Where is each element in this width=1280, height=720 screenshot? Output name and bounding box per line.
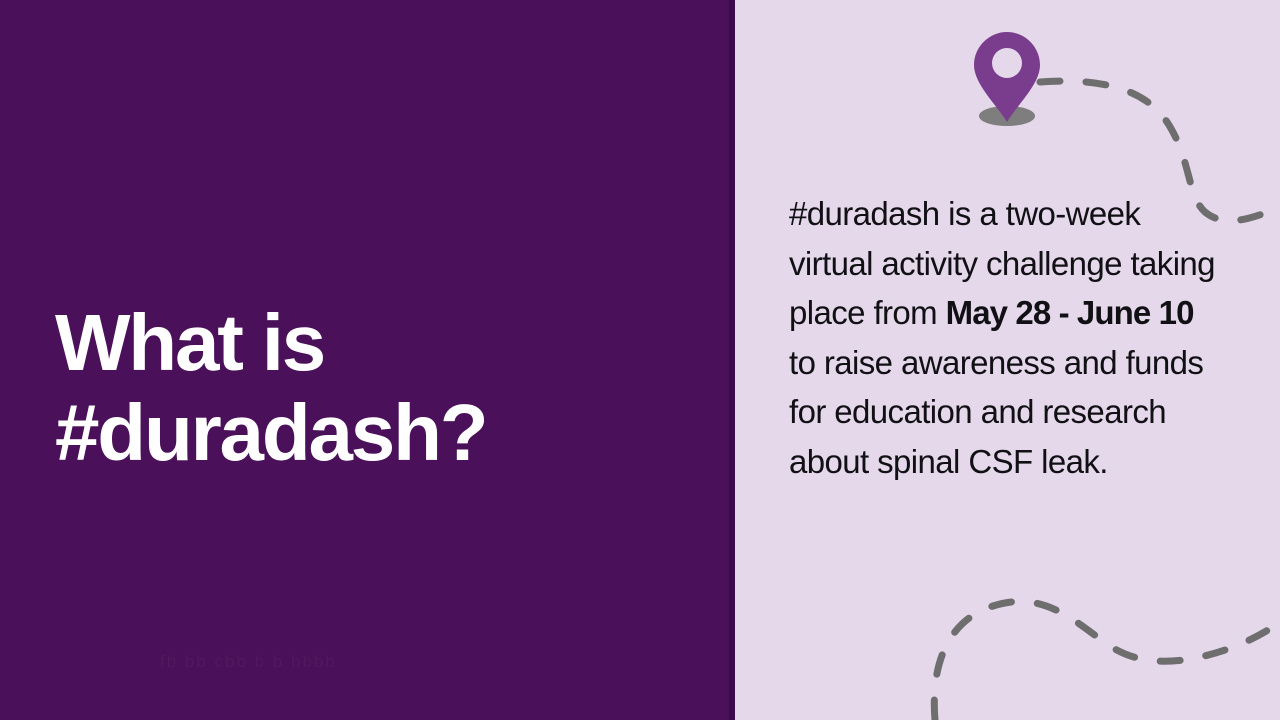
- page-title: What is #duradash?: [55, 298, 695, 478]
- body-paragraph: #duradash is a two-week virtual activity…: [789, 189, 1219, 486]
- dashed-route-bottom: [934, 602, 1280, 720]
- left-panel: What is #duradash? fb bb cbb b b bbbb: [0, 0, 735, 720]
- faint-watermark-text: fb bb cbb b b bbbb: [160, 652, 540, 672]
- body-segment-3: to raise awareness and funds for educati…: [789, 344, 1203, 480]
- page-title-line-2: #duradash?: [55, 388, 695, 478]
- page-title-line-1: What is: [55, 298, 695, 388]
- map-pin-icon: [972, 30, 1042, 126]
- body-segment-dates: May 28 - June 10: [946, 294, 1194, 331]
- right-panel: #duradash is a two-week virtual activity…: [735, 0, 1280, 720]
- slide-root: What is #duradash? fb bb cbb b b bbbb #d…: [0, 0, 1280, 720]
- map-pin-hole-icon: [992, 48, 1022, 78]
